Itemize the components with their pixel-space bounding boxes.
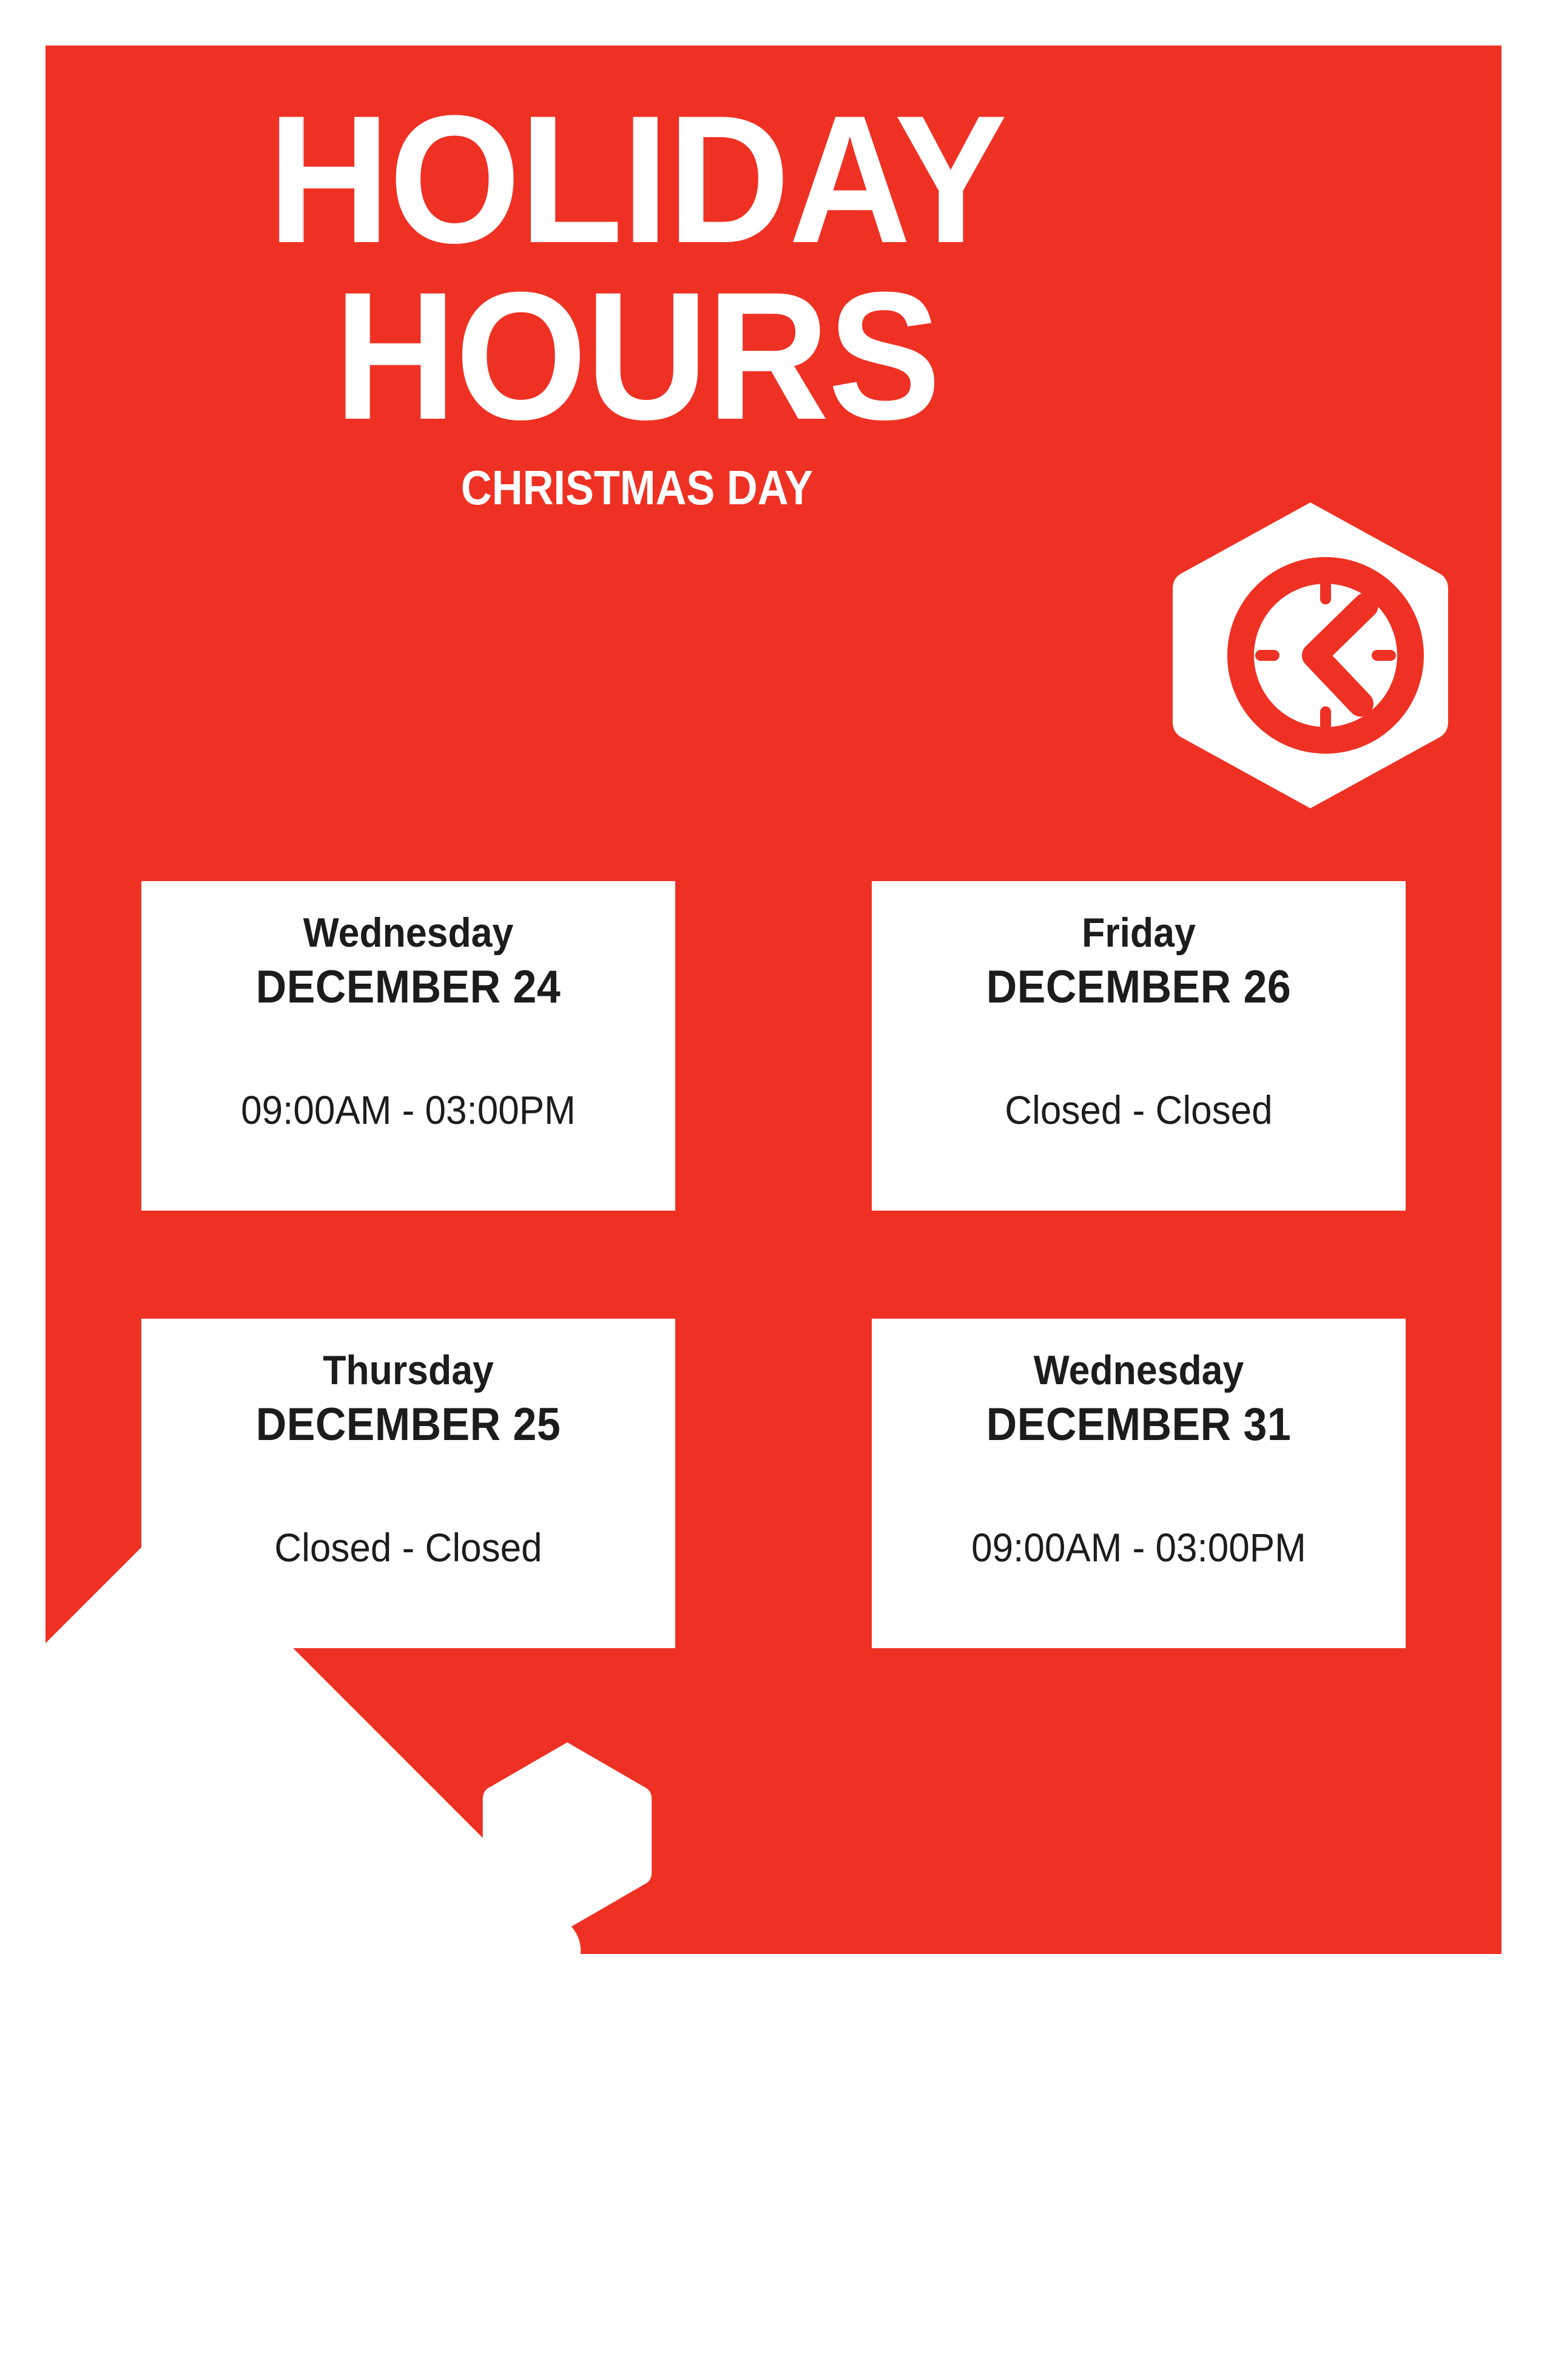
hours-card: Wednesday DECEMBER 24 09:00AM - 03:00PM (141, 881, 675, 1211)
page-title: HOLIDAY HOURS (135, 91, 1139, 444)
card-hours: 09:00AM - 03:00PM (175, 1089, 642, 1131)
hours-card: Friday DECEMBER 26 Closed - Closed (872, 881, 1406, 1211)
card-hours: Closed - Closed (905, 1089, 1373, 1131)
holiday-hours-poster: HOLIDAY HOURS CHRISTMAS DAY Wednesday DE… (0, 0, 1547, 2003)
card-weekday: Wednesday (180, 911, 637, 955)
hours-card: Thursday DECEMBER 25 Closed - Closed (141, 1319, 675, 1648)
card-weekday: Thursday (180, 1349, 637, 1392)
card-date: DECEMBER 24 (180, 963, 637, 1012)
card-date: DECEMBER 25 (180, 1401, 637, 1449)
card-date: DECEMBER 31 (910, 1401, 1367, 1449)
card-hours: 09:00AM - 03:00PM (905, 1527, 1373, 1569)
card-hours: Closed - Closed (175, 1527, 642, 1569)
hours-card: Wednesday DECEMBER 31 09:00AM - 03:00PM (872, 1319, 1406, 1648)
card-date: DECEMBER 26 (910, 963, 1367, 1012)
card-weekday: Wednesday (910, 1349, 1367, 1392)
page-subtitle: CHRISTMAS DAY (162, 464, 1112, 512)
clock-in-hexagon-icon (1168, 498, 1453, 813)
rounded-diamond-decoration-icon (0, 1522, 596, 2380)
hexagon-decoration-icon (479, 1739, 655, 1933)
poster-heading: HOLIDAY HOURS CHRISTMAS DAY (97, 91, 1177, 512)
hours-card-grid: Wednesday DECEMBER 24 09:00AM - 03:00PM … (141, 881, 1406, 1648)
card-weekday: Friday (910, 911, 1367, 955)
